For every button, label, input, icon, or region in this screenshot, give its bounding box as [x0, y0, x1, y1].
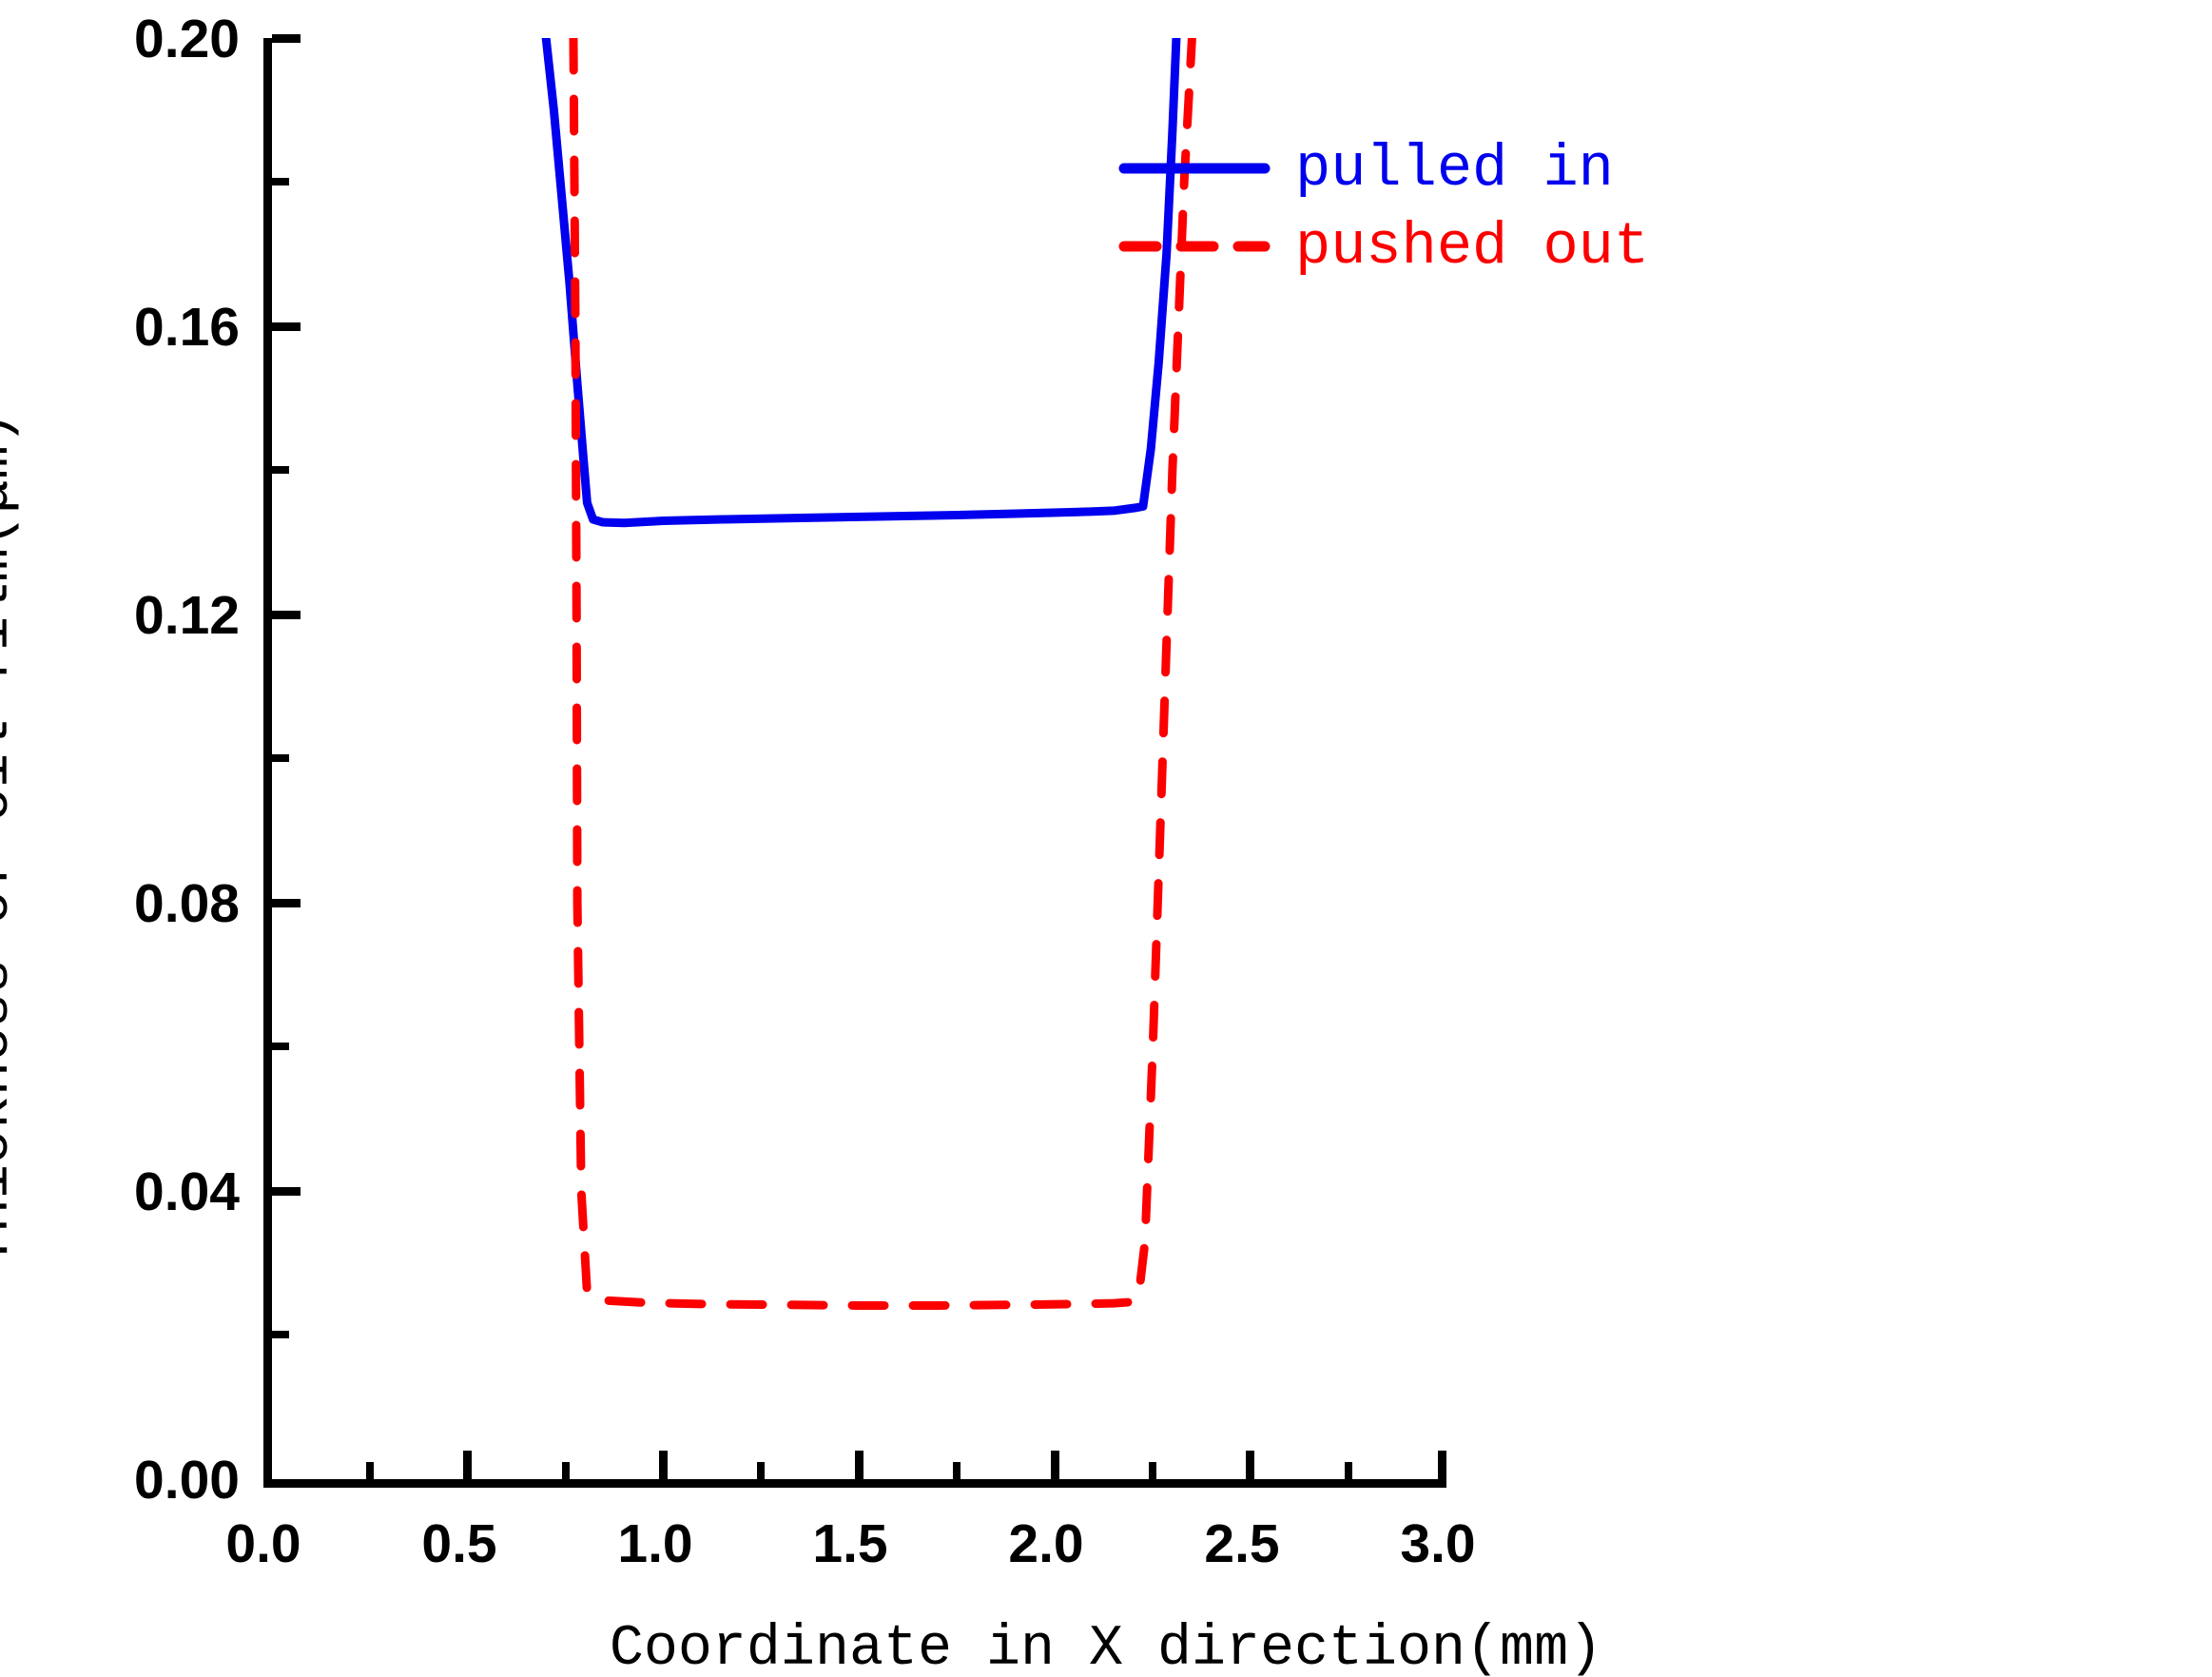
series-line-pushed-out	[573, 38, 1192, 1305]
legend-label-pushed-out: pushed out	[1271, 213, 1649, 281]
x-tick-label-3.0: 3.0	[1343, 1512, 1533, 1575]
legend-label-pulled-in: pulled in	[1271, 135, 1614, 203]
y-tick-label-0.20: 0.20	[59, 8, 240, 70]
chart-figure: Thickness of oil film(μm) 0.20 0.16 0.12…	[0, 0, 2212, 1677]
x-tick-label-1.0: 1.0	[560, 1512, 750, 1575]
legend-swatch-solid-line	[1118, 149, 1271, 187]
y-tick-label-0.00: 0.00	[59, 1449, 240, 1511]
x-axis-title: Coordinate in X direction(mm)	[0, 1617, 2212, 1677]
chart-legend: pulled in pushed out	[1118, 129, 1727, 285]
legend-swatch-dashed-line	[1118, 227, 1271, 265]
legend-entry-pushed-out: pushed out	[1118, 207, 1727, 285]
x-tick-label-0.0: 0.0	[168, 1512, 359, 1575]
x-tick-label-2.5: 2.5	[1147, 1512, 1337, 1575]
legend-entry-pulled-in: pulled in	[1118, 129, 1727, 207]
y-tick-label-0.08: 0.08	[59, 872, 240, 935]
y-tick-label-0.16: 0.16	[59, 296, 240, 359]
x-tick-label-0.5: 0.5	[364, 1512, 554, 1575]
x-tick-label-1.5: 1.5	[755, 1512, 945, 1575]
y-tick-label-0.12: 0.12	[59, 584, 240, 647]
y-axis-title: Thickness of oil film(μm)	[0, 410, 25, 1266]
y-tick-label-0.04: 0.04	[59, 1160, 240, 1223]
plot-area: pulled in pushed out	[263, 38, 1446, 1488]
series-line-pulled-in	[546, 38, 1176, 523]
x-tick-label-2.0: 2.0	[951, 1512, 1141, 1575]
